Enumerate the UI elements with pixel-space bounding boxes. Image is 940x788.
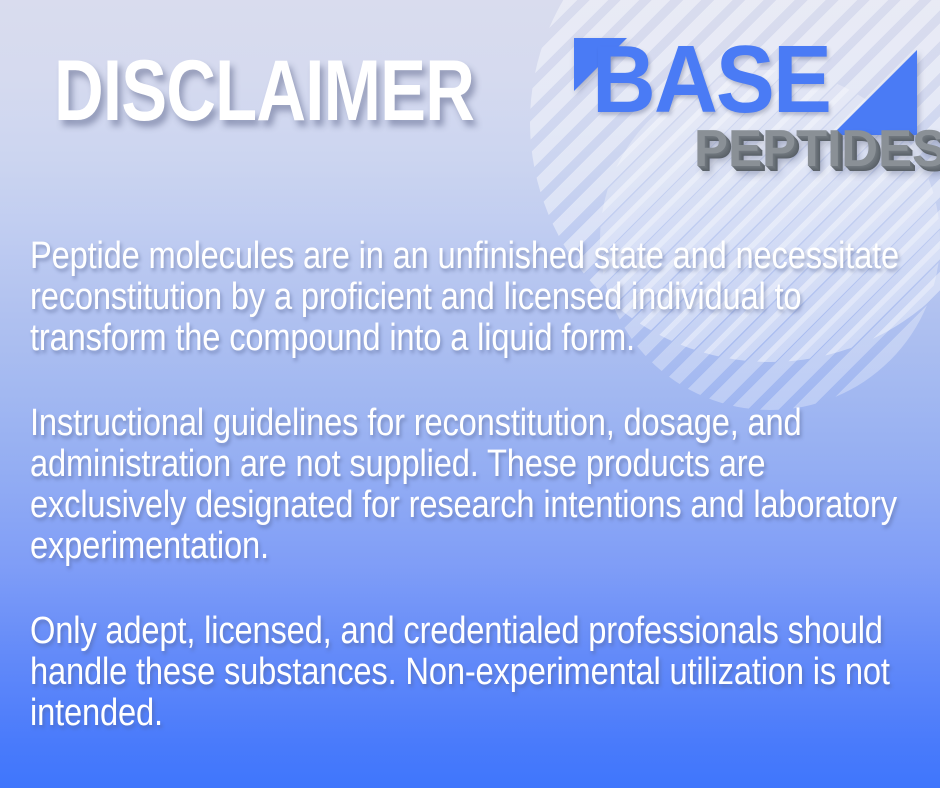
brand-name-primary: BASE: [592, 32, 830, 128]
disclaimer-paragraph: Peptide molecules are in an unfinished s…: [30, 236, 920, 359]
disclaimer-paragraph: Instructional guidelines for reconstitut…: [30, 403, 920, 567]
page-title: DISCLAIMER: [54, 48, 474, 134]
brand-name-secondary: PEPTIDES: [694, 123, 940, 175]
disclaimer-poster: DISCLAIMER BASE PEPTIDES Peptide molecul…: [0, 0, 940, 788]
brand-logo: BASE PEPTIDES: [560, 20, 920, 190]
disclaimer-body: Peptide molecules are in an unfinished s…: [30, 236, 920, 734]
disclaimer-paragraph: Only adept, licensed, and credentialed p…: [30, 611, 920, 734]
